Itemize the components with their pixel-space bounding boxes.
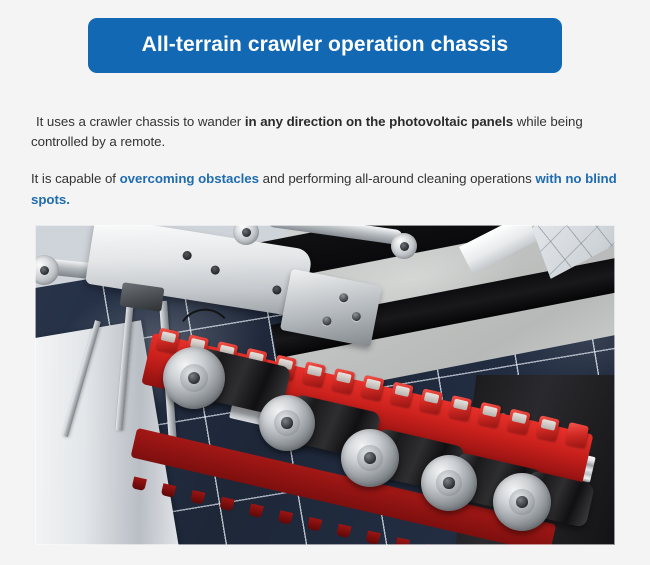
paragraph-two-text-1: It is capable of (31, 171, 120, 186)
paragraph-two-accent-one: overcoming obstacles (120, 171, 259, 186)
plate-hole-icon (272, 285, 282, 295)
arm-roller-end-right (391, 233, 417, 259)
track-tooth (424, 544, 439, 545)
idler-wheel (493, 473, 551, 531)
plate-hole-icon (182, 250, 192, 260)
paragraph-two-text-2: and performing all-around cleaning opera… (259, 171, 535, 186)
idler-wheel (421, 455, 477, 511)
title-banner-container: All-terrain crawler operation chassis (0, 18, 650, 73)
paragraph-one: It uses a crawler chassis to wander in a… (31, 112, 628, 152)
track-tooth (395, 537, 410, 545)
description-block: It uses a crawler chassis to wander in a… (0, 112, 650, 210)
idler-wheel (163, 347, 225, 409)
idler-wheel (259, 395, 315, 451)
product-photo (35, 225, 615, 545)
page-title: All-terrain crawler operation chassis (122, 33, 528, 56)
paragraph-one-text-1: It uses a crawler chassis to wander (36, 114, 245, 129)
arm-roller-end-left (35, 255, 59, 285)
paragraph-one-bold: in any direction on the photovoltaic pan… (245, 114, 513, 129)
photo-scene (35, 225, 615, 545)
plate-hole-icon (210, 265, 220, 275)
title-banner: All-terrain crawler operation chassis (88, 18, 562, 73)
idler-wheel (341, 429, 399, 487)
paragraph-two: It is capable of overcoming obstacles an… (31, 169, 628, 209)
bracket-bolt-icon (351, 311, 362, 322)
bracket-bolt-icon (322, 316, 333, 327)
bracket-bolt-icon (338, 292, 349, 303)
